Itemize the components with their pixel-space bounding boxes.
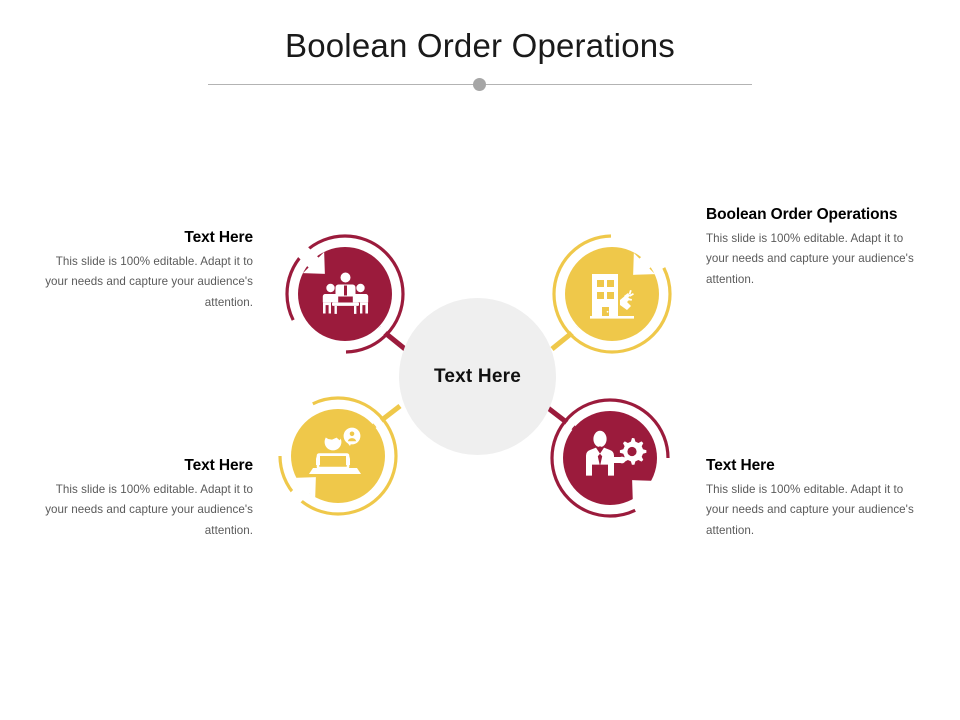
node-top-right[interactable] xyxy=(548,232,678,362)
page-title: Boolean Order Operations xyxy=(0,26,960,66)
title-block: Boolean Order Operations xyxy=(0,26,960,66)
node-bottom-left[interactable] xyxy=(274,392,404,522)
text-block-top-right: Boolean Order Operations This slide is 1… xyxy=(706,205,921,291)
text-block-top-right-heading: Boolean Order Operations xyxy=(706,205,921,225)
text-block-bottom-left-heading: Text Here xyxy=(38,456,253,476)
center-circle[interactable]: Text Here xyxy=(399,298,556,455)
text-block-bottom-right-body: This slide is 100% editable. Adapt it to… xyxy=(706,480,921,542)
slide-canvas: Boolean Order Operations Text Here xyxy=(0,0,960,720)
text-block-bottom-left-body: This slide is 100% editable. Adapt it to… xyxy=(38,480,253,542)
title-divider-dot-icon xyxy=(473,78,486,91)
text-block-top-left-body: This slide is 100% editable. Adapt it to… xyxy=(38,252,253,314)
text-block-top-left-heading: Text Here xyxy=(38,228,253,248)
text-block-top-right-body: This slide is 100% editable. Adapt it to… xyxy=(706,229,921,291)
text-block-top-left: Text Here This slide is 100% editable. A… xyxy=(38,228,253,314)
text-block-bottom-left: Text Here This slide is 100% editable. A… xyxy=(38,456,253,542)
node-bottom-right[interactable] xyxy=(546,394,676,524)
text-block-bottom-right: Text Here This slide is 100% editable. A… xyxy=(706,456,921,542)
center-circle-label: Text Here xyxy=(434,366,521,388)
node-top-left[interactable] xyxy=(283,232,413,362)
text-block-bottom-right-heading: Text Here xyxy=(706,456,921,476)
